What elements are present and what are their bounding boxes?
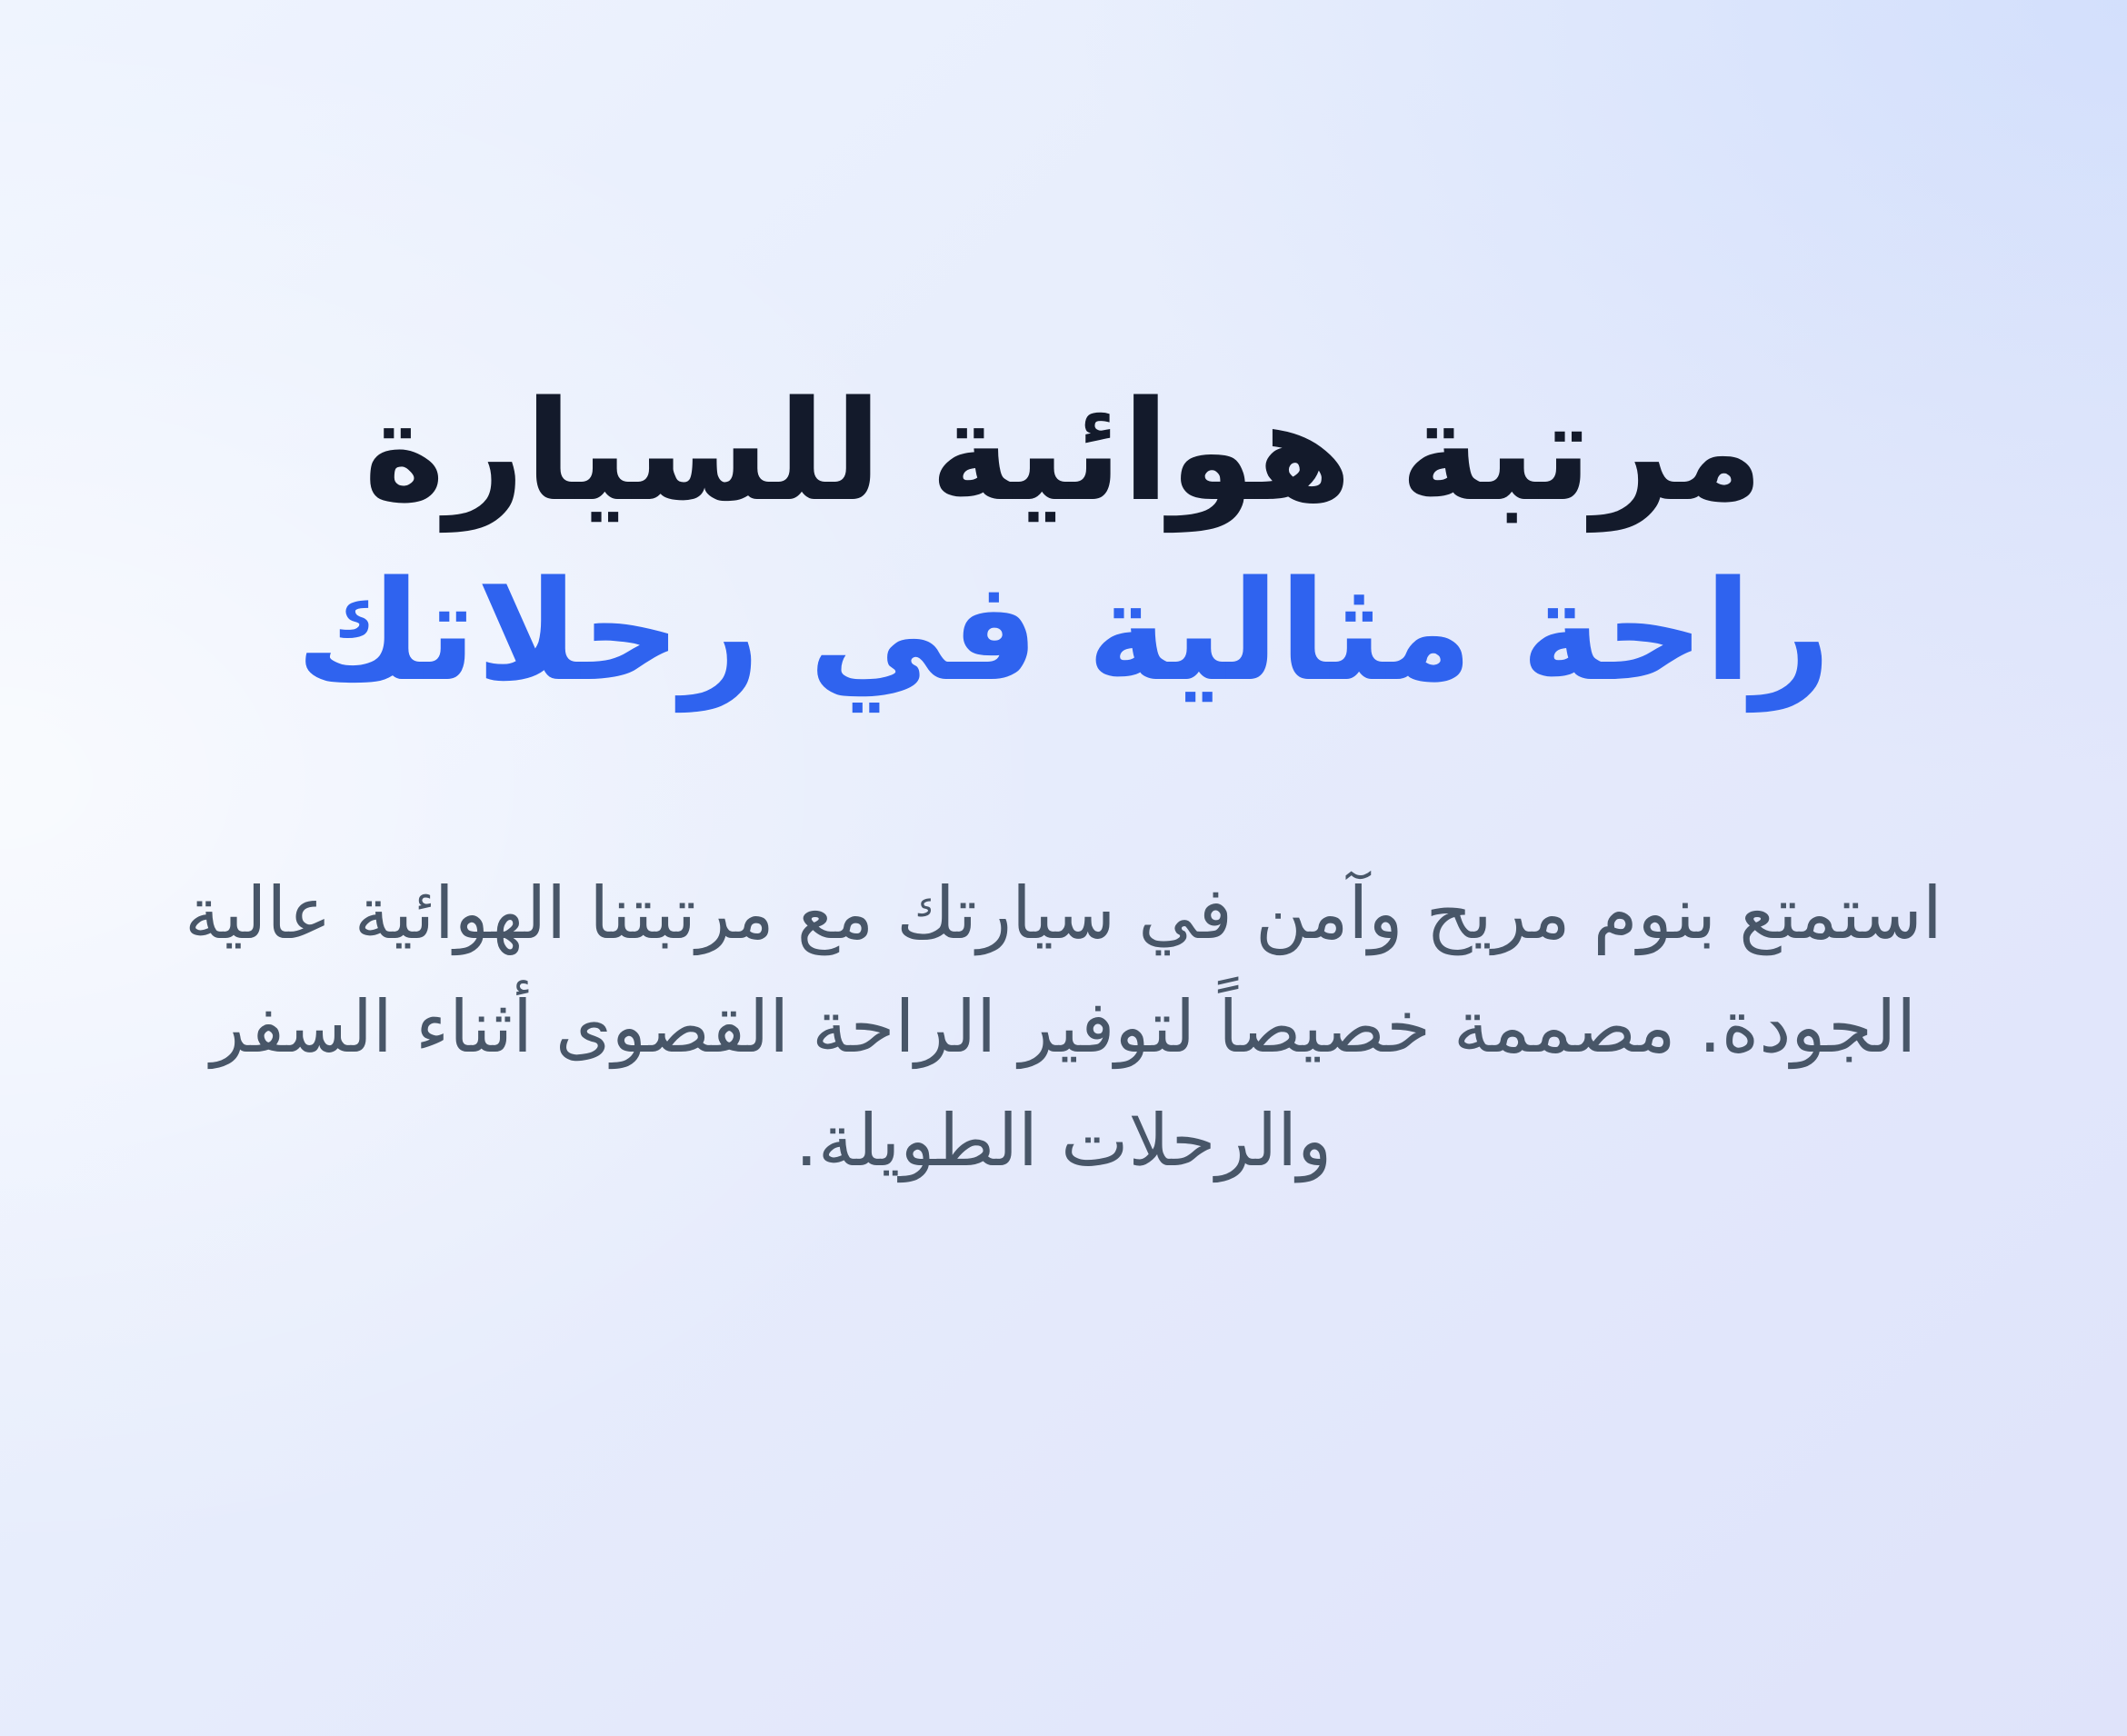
- hero-description: استمتع بنوم مريح وآمن في سيارتك مع مرتبت…: [180, 721, 1948, 1197]
- hero-section: مرتبة هوائية للسيارة راحة مثالية في رحلا…: [0, 0, 2127, 1736]
- hero-title-accent-line: راحة مثالية في رحلاتك: [150, 542, 1977, 722]
- hero-title-primary-line: مرتبة هوائية للسيارة: [364, 371, 1763, 532]
- page-title: مرتبة هوائية للسيارة راحة مثالية في رحلا…: [150, 362, 1977, 721]
- hero-content: مرتبة هوائية للسيارة راحة مثالية في رحلا…: [150, 0, 1977, 1198]
